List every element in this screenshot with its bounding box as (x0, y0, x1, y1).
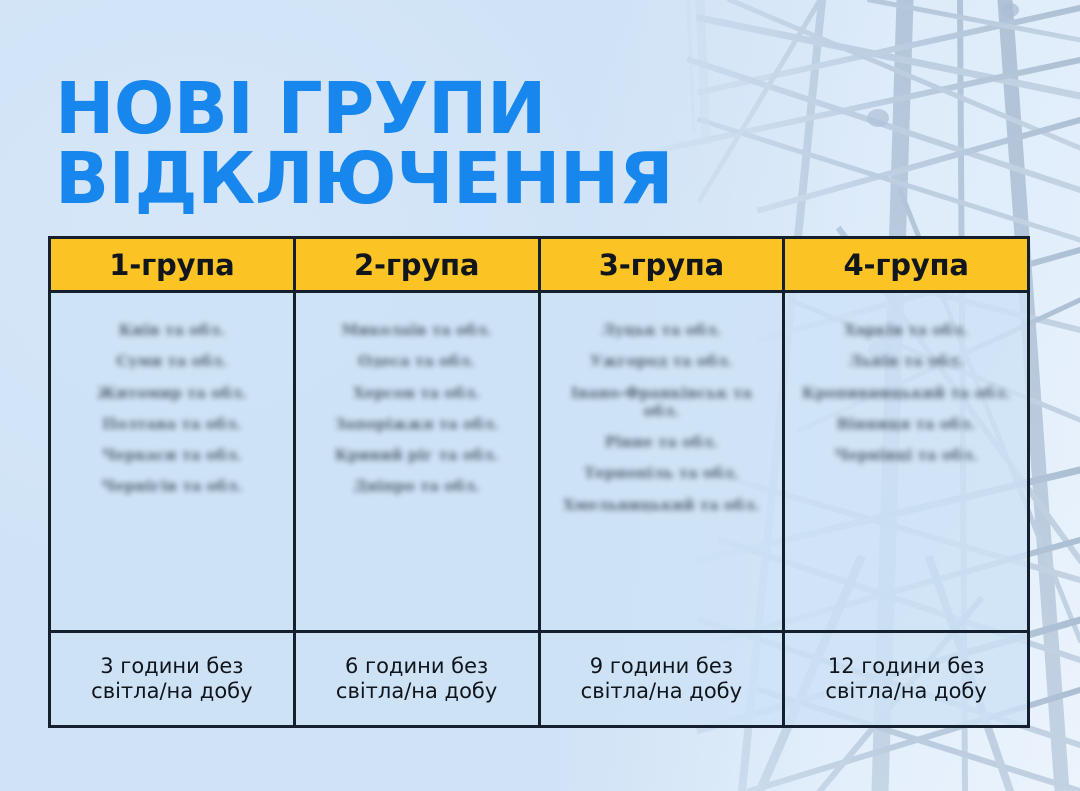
city-item: Суми та обл. (116, 352, 227, 370)
city-item: Чернівці та обл. (835, 446, 978, 464)
city-item: Чернігів та обл. (101, 477, 242, 495)
duration-cell-group-2: 6 години без світла/на добу (296, 633, 541, 725)
city-item: Харків та обл. (844, 321, 968, 339)
cities-cell-group-2: Миколаїв та обл. Одеса та обл. Херсон та… (296, 293, 541, 630)
cities-cell-group-3: Луцьк та обл. Ужгород та обл. Івано-Фран… (541, 293, 786, 630)
column-header-group-1: 1-група (51, 239, 296, 290)
duration-cell-group-1: 3 години без світла/на добу (51, 633, 296, 725)
city-item: Київ та обл. (119, 321, 225, 339)
city-item: Житомир та обл. (97, 384, 247, 402)
column-header-group-3: 3-група (541, 239, 786, 290)
city-item: Хмельницький та обл. (563, 496, 760, 514)
duration-cell-group-3: 9 години без світла/на добу (541, 633, 786, 725)
city-item: Кривий ріг та обл. (335, 446, 499, 464)
cities-cell-group-4: Харків та обл. Львів та обл. Кропивницьк… (785, 293, 1027, 630)
city-item: Ужгород та обл. (590, 352, 732, 370)
city-item: Полтава та обл. (102, 415, 241, 433)
city-item: Запоріжжя та обл. (334, 415, 498, 433)
city-item: Херсон та обл. (353, 384, 480, 402)
city-item: Луцьк та обл. (601, 321, 721, 339)
city-item: Кропивницький та обл. (802, 384, 1010, 402)
outage-schedule-table: 1-група 2-група 3-група 4-група Київ та … (48, 236, 1030, 728)
city-item: Львів та обл. (848, 352, 963, 370)
table-cities-row: Київ та обл. Суми та обл. Житомир та обл… (51, 293, 1027, 633)
column-header-group-2: 2-група (296, 239, 541, 290)
city-item: Черкаси та обл. (102, 446, 242, 464)
table-duration-row: 3 години без світла/на добу 6 години без… (51, 633, 1027, 725)
city-item: Тернопіль та обл. (584, 464, 739, 482)
city-item: Рівне та обл. (605, 433, 718, 451)
duration-cell-group-4: 12 години без світла/на добу (785, 633, 1027, 725)
poster-root: Нові групи відключення 1-група 2-група 3… (0, 0, 1080, 791)
city-item: Вінниця та обл. (837, 415, 976, 433)
city-item: Одеса та обл. (358, 352, 475, 370)
column-header-group-4: 4-група (785, 239, 1027, 290)
table-header-row: 1-група 2-група 3-група 4-група (51, 239, 1027, 293)
page-title: Нові групи відключення (55, 74, 815, 215)
city-item: Миколаїв та обл. (342, 321, 492, 339)
city-item: Івано-Франківськ та обл. (555, 384, 768, 421)
city-item: Дніпро та обл. (353, 477, 480, 495)
cities-cell-group-1: Київ та обл. Суми та обл. Житомир та обл… (51, 293, 296, 630)
